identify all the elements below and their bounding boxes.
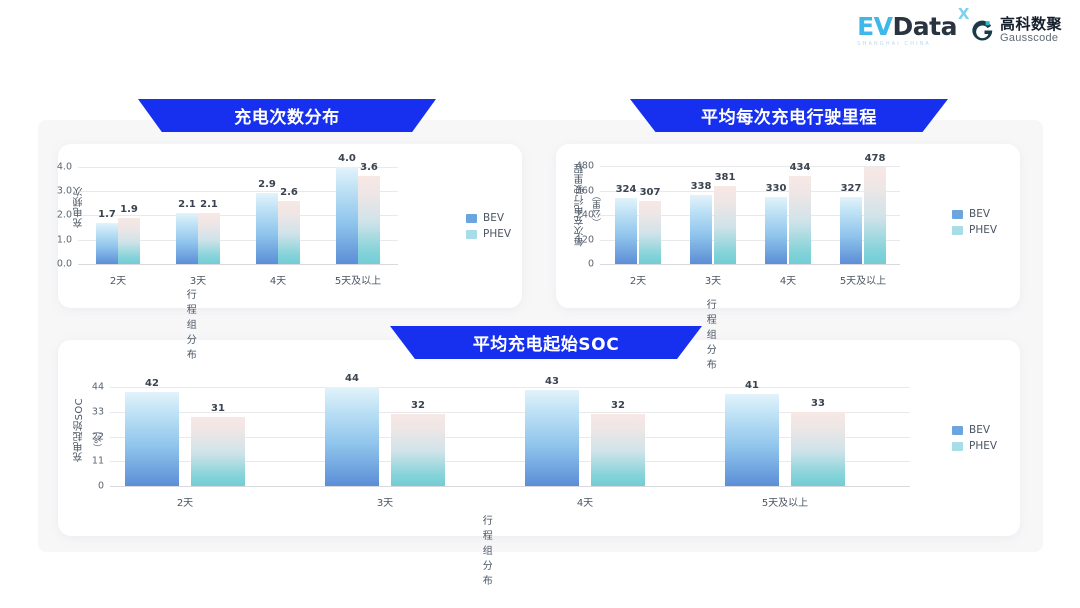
bar-value-label: 381 [715, 172, 736, 183]
plot-area: 01122334442312天44323天43324天41335天及以上 [110, 383, 910, 486]
bar-bev-3天: 338 [690, 195, 712, 264]
gridline [110, 387, 910, 388]
legend-item-phev[interactable]: PHEV [466, 228, 511, 240]
bar-value-label: 478 [865, 153, 886, 164]
bar-bev-5天及以上: 327 [840, 197, 862, 264]
bar-bev-4天: 330 [765, 197, 787, 264]
bar-phev-5天及以上: 478 [864, 167, 886, 264]
bar-phev-2天: 31 [191, 417, 245, 486]
bar-bev-3天: 44 [325, 387, 379, 486]
y-axis-tick: 33 [92, 407, 104, 418]
gridline [110, 486, 910, 487]
gausscode-logo: 高科数聚 Gausscode [971, 17, 1062, 45]
x-axis-tick: 5天及以上 [762, 494, 808, 509]
x-axis-tick: 5天及以上 [335, 272, 381, 287]
y-axis-tick: 1.0 [57, 234, 72, 245]
chart-title-banner-1: 充电次数分布 [138, 99, 436, 132]
bar-value-label: 1.7 [98, 209, 116, 220]
bar-value-label: 1.9 [120, 204, 138, 215]
y-axis-label: 每次充电行驶里程 [573, 163, 588, 246]
bar-phev-3天: 32 [391, 414, 445, 486]
bar-bev-3天: 2.1 [176, 213, 198, 264]
y-axis-tick: 11 [92, 456, 104, 467]
chart-legend: BEVPHEV [952, 424, 997, 452]
bar-value-label: 42 [145, 378, 159, 389]
evdata-wordmark: EVDataX [857, 14, 957, 39]
bar-phev-5天及以上: 3.6 [358, 176, 380, 264]
legend-label-phev: PHEV [969, 440, 997, 452]
y-axis-tick: 0 [98, 481, 104, 492]
legend-label-phev: PHEV [969, 224, 997, 236]
bar-bev-5天及以上: 41 [725, 394, 779, 486]
brand-logo-bar: EVDataX SHANGHAI CHINA 高科数聚 Gausscode [857, 14, 1062, 47]
y-axis-label-unit: （%） [92, 426, 105, 453]
x-axis-label: 行程组分布 [187, 286, 197, 361]
legend-swatch-bev-icon [466, 214, 477, 223]
y-axis-tick: 0.0 [57, 259, 72, 270]
x-axis-tick: 3天 [377, 494, 393, 509]
bar-phev-4天: 32 [591, 414, 645, 486]
bar-value-label: 2.6 [280, 187, 298, 198]
y-axis-label: 充电起始SOC [72, 398, 87, 462]
x-axis-tick: 3天 [705, 272, 721, 287]
plot-area: 0.01.02.03.04.01.71.92天2.12.13天2.92.64天4… [78, 158, 398, 264]
x-axis-tick: 2天 [177, 494, 193, 509]
legend-item-bev[interactable]: BEV [952, 424, 997, 436]
x-axis-tick: 4天 [780, 272, 796, 287]
bar-value-label: 434 [790, 162, 811, 173]
bar-phev-4天: 2.6 [278, 201, 300, 264]
x-axis-tick: 2天 [630, 272, 646, 287]
legend-swatch-phev-icon [466, 230, 477, 239]
x-axis-tick: 4天 [270, 272, 286, 287]
y-axis-tick: 44 [92, 382, 104, 393]
x-axis-tick: 4天 [577, 494, 593, 509]
legend-swatch-phev-icon [952, 226, 963, 235]
bar-bev-2天: 42 [125, 392, 179, 486]
bar-value-label: 4.0 [338, 153, 356, 164]
bar-phev-3天: 2.1 [198, 213, 220, 264]
bar-bev-5天及以上: 4.0 [336, 167, 358, 264]
x-axis-label: 行程组分布 [483, 512, 493, 587]
legend-label-bev: BEV [969, 208, 990, 220]
bar-phev-2天: 1.9 [118, 218, 140, 264]
bar-value-label: 31 [211, 403, 225, 414]
y-axis-tick: 0 [588, 259, 594, 270]
legend-label-bev: BEV [483, 212, 504, 224]
bar-value-label: 32 [611, 400, 625, 411]
bar-value-label: 2.1 [200, 199, 218, 210]
y-axis-tick: 2.0 [57, 210, 72, 221]
bar-bev-4天: 43 [525, 390, 579, 486]
evdata-x-icon: X [958, 7, 969, 22]
legend-item-phev[interactable]: PHEV [952, 224, 997, 236]
chart-title-banner-2: 平均每次充电行驶里程 [630, 99, 948, 132]
legend-item-bev[interactable]: BEV [466, 212, 511, 224]
y-axis-label-unit: （公里） [591, 191, 604, 227]
chart-title-banner-3: 平均充电起始SOC [390, 326, 702, 359]
gausscode-g-icon [971, 19, 994, 42]
bar-value-label: 3.6 [360, 162, 378, 173]
plot-area: 01202403604803243072天3383813天3304344天327… [600, 158, 900, 264]
legend-item-phev[interactable]: PHEV [952, 440, 997, 452]
bar-value-label: 324 [616, 184, 637, 195]
bar-value-label: 2.9 [258, 179, 276, 190]
bar-value-label: 43 [545, 376, 559, 387]
x-axis-tick: 2天 [110, 272, 126, 287]
evdata-logo: EVDataX SHANGHAI CHINA [857, 14, 957, 47]
y-axis-tick: 3.0 [57, 185, 72, 196]
bar-phev-3天: 381 [714, 186, 736, 264]
legend-label-bev: BEV [969, 424, 990, 436]
x-axis-tick: 3天 [190, 272, 206, 287]
legend-swatch-phev-icon [952, 442, 963, 451]
legend-label-phev: PHEV [483, 228, 511, 240]
bar-bev-2天: 324 [615, 198, 637, 264]
gausscode-name-en: Gausscode [1000, 32, 1062, 44]
y-axis-label: 充电频次 [72, 186, 87, 228]
chart-legend: BEVPHEV [466, 212, 511, 240]
bar-value-label: 330 [766, 183, 787, 194]
slide-root: EVDataX SHANGHAI CHINA 高科数聚 Gausscode 充电… [0, 0, 1080, 608]
x-axis-label: 行程组分布 [707, 296, 717, 371]
legend-swatch-bev-icon [952, 210, 963, 219]
chart-legend: BEVPHEV [952, 208, 997, 236]
bar-value-label: 32 [411, 400, 425, 411]
bar-phev-2天: 307 [639, 201, 661, 264]
legend-item-bev[interactable]: BEV [952, 208, 997, 220]
gridline [78, 264, 398, 265]
bar-value-label: 33 [811, 398, 825, 409]
gridline [600, 264, 900, 265]
y-axis-tick: 4.0 [57, 161, 72, 172]
gausscode-name-cn: 高科数聚 [1000, 17, 1062, 33]
bar-phev-5天及以上: 33 [791, 412, 845, 486]
bar-value-label: 307 [640, 187, 661, 198]
bar-bev-4天: 2.9 [256, 193, 278, 264]
evdata-tagline: SHANGHAI CHINA [857, 41, 931, 47]
bar-bev-2天: 1.7 [96, 223, 118, 264]
gridline [600, 166, 900, 167]
evdata-prefix: EV [857, 12, 892, 41]
bar-value-label: 327 [841, 183, 862, 194]
bar-value-label: 44 [345, 373, 359, 384]
evdata-suffix: Data [893, 12, 957, 41]
gridline [110, 412, 910, 413]
gausscode-text: 高科数聚 Gausscode [1000, 17, 1062, 45]
bar-phev-4天: 434 [789, 176, 811, 264]
x-axis-tick: 5天及以上 [840, 272, 886, 287]
bar-value-label: 2.1 [178, 199, 196, 210]
legend-swatch-bev-icon [952, 426, 963, 435]
bar-value-label: 41 [745, 380, 759, 391]
bar-value-label: 338 [691, 181, 712, 192]
